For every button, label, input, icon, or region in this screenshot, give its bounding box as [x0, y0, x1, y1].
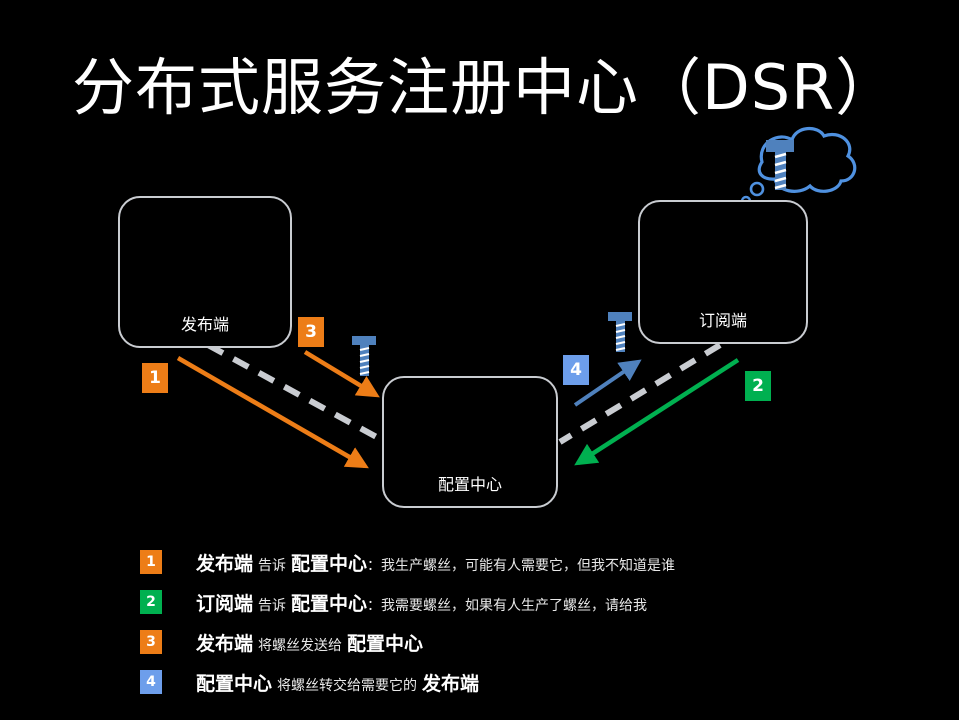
legend-row: 3 发布端 将螺丝发送给 配置中心 [140, 622, 860, 662]
legend-detail: ：我生产螺丝，可能有人需要它，但我不知道是谁 [367, 555, 675, 575]
node-config-center[interactable]: 配置中心 [382, 376, 558, 508]
legend-object: 配置中心 [291, 549, 367, 576]
step-badge-3: 3 [298, 317, 324, 347]
legend-verb: 将螺丝转交给需要它的 [272, 675, 422, 695]
step-badge-1: 1 [142, 363, 168, 393]
thought-bubble-subscriber [742, 129, 855, 205]
screw-icon-midleft [352, 336, 376, 376]
legend-object: 配置中心 [291, 589, 367, 616]
legend-subject: 订阅端 [196, 589, 253, 616]
legend-text: 订阅端 告诉 配置中心 ：我需要螺丝，如果有人生产了螺丝，请给我 [196, 589, 647, 616]
legend-detail: ：我需要螺丝，如果有人生产了螺丝，请给我 [367, 595, 647, 615]
legend-verb: 将螺丝发送给 [253, 635, 347, 655]
legend-row: 1 发布端 告诉 配置中心 ：我生产螺丝，可能有人需要它，但我不知道是谁 [140, 542, 860, 582]
legend: 1 发布端 告诉 配置中心 ：我生产螺丝，可能有人需要它，但我不知道是谁 2 订… [140, 542, 860, 702]
legend-text: 发布端 告诉 配置中心 ：我生产螺丝，可能有人需要它，但我不知道是谁 [196, 549, 675, 576]
legend-subject: 发布端 [196, 629, 253, 656]
node-publisher-label: 发布端 [120, 311, 290, 335]
legend-object: 配置中心 [347, 629, 423, 656]
node-subscriber-label: 订阅端 [640, 307, 806, 331]
legend-badge-3: 3 [140, 630, 162, 654]
legend-text: 配置中心 将螺丝转交给需要它的 发布端 [196, 669, 479, 696]
step-badge-4: 4 [563, 355, 589, 385]
node-config-center-label: 配置中心 [384, 471, 556, 495]
screw-icon-midright [608, 312, 632, 352]
legend-badge-2: 2 [140, 590, 162, 614]
legend-verb: 告诉 [253, 555, 291, 575]
legend-subject: 发布端 [196, 549, 253, 576]
legend-row: 4 配置中心 将螺丝转交给需要它的 发布端 [140, 662, 860, 702]
legend-badge-1: 1 [140, 550, 162, 574]
legend-verb: 告诉 [253, 595, 291, 615]
node-publisher[interactable]: 发布端 [118, 196, 292, 348]
legend-object: 发布端 [422, 669, 479, 696]
step-badge-2: 2 [745, 371, 771, 401]
arrow-step-2 [578, 360, 738, 463]
slide-canvas: 分布式服务注册中心（DSR） [0, 0, 959, 720]
node-subscriber[interactable]: 订阅端 [638, 200, 808, 344]
legend-row: 2 订阅端 告诉 配置中心 ：我需要螺丝，如果有人生产了螺丝，请给我 [140, 582, 860, 622]
legend-badge-4: 4 [140, 670, 162, 694]
legend-text: 发布端 将螺丝发送给 配置中心 [196, 629, 423, 656]
legend-subject: 配置中心 [196, 669, 272, 696]
